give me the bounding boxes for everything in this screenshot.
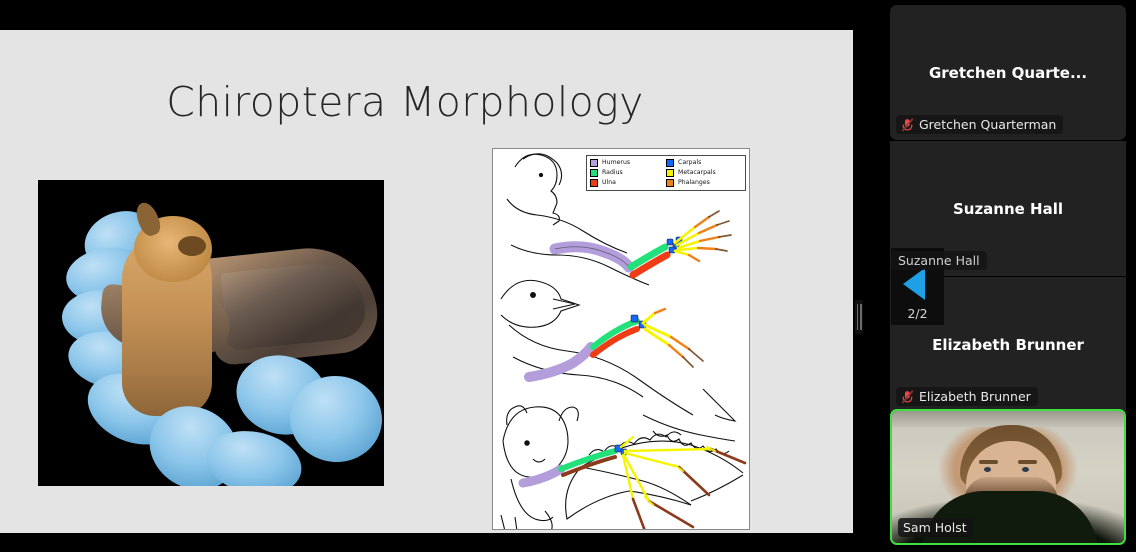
legend-swatch	[666, 179, 674, 187]
legend-item-ulna: Ulna	[590, 178, 666, 188]
overlay-name-chip: Suzanne Hall	[891, 251, 987, 270]
legend-label: Phalanges	[678, 180, 710, 186]
legend-swatch	[666, 169, 674, 177]
homology-svg	[493, 149, 750, 530]
participant-tile-gretchen-quarterman[interactable]: Gretchen Quarte... Gretchen Quarterman	[890, 5, 1126, 140]
bird-metacarpals	[643, 313, 671, 345]
microphone-muted-icon	[901, 118, 914, 132]
page-indicator: 2/2	[891, 306, 944, 321]
legend-item-radius: Radius	[590, 168, 666, 178]
participant-display-name: Suzanne Hall	[890, 200, 1126, 218]
participant-name-label: Elizabeth Brunner	[919, 389, 1031, 404]
legend-label: Humerus	[602, 160, 630, 166]
legend-label: Radius	[602, 170, 623, 176]
bat-outline	[501, 406, 743, 530]
participant-footer: Sam Holst	[898, 518, 974, 537]
legend-label: Metacarpals	[678, 170, 716, 176]
participant-display-name: Gretchen Quarte...	[890, 64, 1126, 82]
share-resize-handle[interactable]	[855, 300, 863, 334]
bat-photograph	[38, 180, 384, 486]
participant-footer: Elizabeth Brunner	[896, 387, 1038, 406]
microphone-muted-icon	[901, 390, 914, 404]
bat-phalanges	[633, 449, 745, 530]
legend-item-humerus: Humerus	[590, 158, 666, 168]
legend-swatch	[590, 179, 598, 187]
diagram-legend: Humerus Carpals Radius Metacarpals Ulna	[586, 155, 746, 191]
presentation-slide[interactable]: Chiroptera Morphology	[0, 30, 853, 533]
legend-label: Carpals	[678, 160, 701, 166]
video-eyebrow	[1018, 460, 1037, 464]
bird-humerus	[529, 347, 591, 377]
grip-line	[860, 304, 862, 330]
shared-screen-region[interactable]: Chiroptera Morphology	[0, 0, 886, 552]
human-phalanges	[689, 217, 719, 261]
legend-label: Ulna	[602, 180, 616, 186]
video-eyebrow	[979, 460, 998, 464]
legend-item-carpals: Carpals	[666, 158, 742, 168]
legend-swatch	[590, 169, 598, 177]
legend-swatch	[666, 159, 674, 167]
forelimb-homology-diagram: Humerus Carpals Radius Metacarpals Ulna	[492, 148, 750, 530]
page-title: Chiroptera Morphology	[0, 78, 810, 126]
participant-tile-sam-holst[interactable]: Sam Holst	[890, 409, 1126, 545]
participant-footer: Gretchen Quarterman	[896, 115, 1063, 134]
bat-snout	[178, 236, 206, 256]
legend-swatch	[590, 159, 598, 167]
bird-outline	[501, 280, 735, 453]
legend-item-metacarpals: Metacarpals	[666, 168, 742, 178]
grip-line	[857, 304, 859, 330]
video-eye	[984, 467, 991, 472]
participant-display-name: Elizabeth Brunner	[890, 336, 1126, 354]
human-metacarpals	[675, 227, 700, 255]
video-eye	[1022, 467, 1029, 472]
participant-name-label: Gretchen Quarterman	[919, 117, 1056, 132]
legend-item-phalanges: Phalanges	[666, 178, 742, 188]
participant-name-label: Sam Holst	[903, 520, 967, 535]
chevron-left-icon[interactable]	[903, 268, 925, 300]
bat-humerus	[523, 469, 561, 483]
